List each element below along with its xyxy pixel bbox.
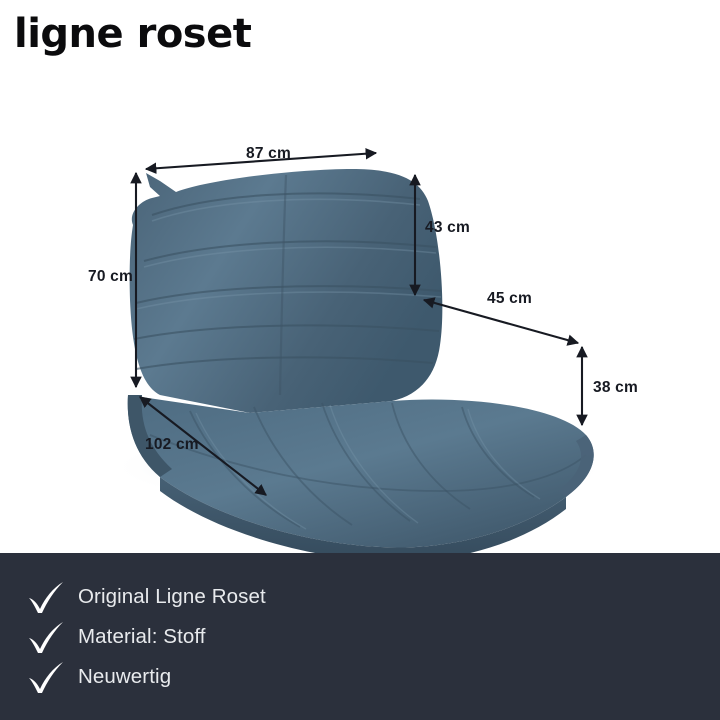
list-item: Original Ligne Roset xyxy=(26,578,266,616)
brand-logo: ligne roset xyxy=(14,14,251,54)
feature-list: Original Ligne Roset Material: Stoff Neu… xyxy=(0,578,266,696)
check-icon xyxy=(26,579,66,615)
list-item-label: Original Ligne Roset xyxy=(78,585,266,609)
product-illustration xyxy=(0,95,720,553)
dimension-label-width-top: 87 cm xyxy=(246,145,291,163)
list-item: Material: Stoff xyxy=(26,618,266,656)
footer-banner: Original Ligne Roset Material: Stoff Neu… xyxy=(0,553,720,720)
chair-body xyxy=(128,169,594,553)
backrest xyxy=(130,169,443,413)
check-icon xyxy=(26,659,66,695)
dimension-label-depth: 102 cm xyxy=(145,436,199,454)
dimension-label-seat-height: 38 cm xyxy=(593,379,638,397)
list-item-label: Neuwertig xyxy=(78,665,171,689)
list-item: Neuwertig xyxy=(26,658,266,696)
dimension-label-back-height: 43 cm xyxy=(425,219,470,237)
list-item-label: Material: Stoff xyxy=(78,625,206,649)
dimension-label-height: 70 cm xyxy=(88,268,133,286)
product-stage xyxy=(0,95,720,553)
check-icon xyxy=(26,619,66,655)
dimension-label-seat-depth: 45 cm xyxy=(487,290,532,308)
product-image: ligne roset xyxy=(0,0,720,720)
